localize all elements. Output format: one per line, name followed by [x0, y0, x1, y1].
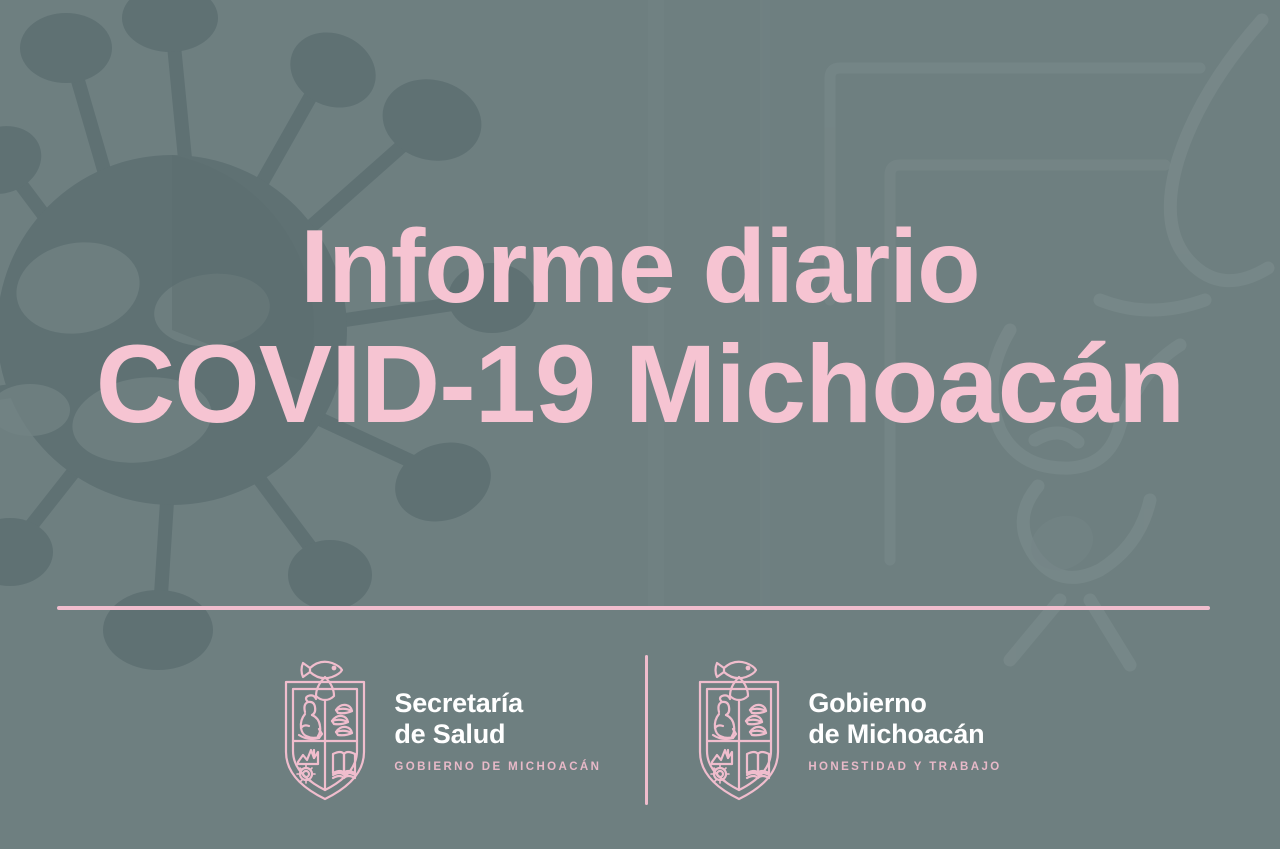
horizontal-divider: [57, 606, 1210, 610]
logo-gobierno-de-michoacan: Gobierno de Michoacán HONESTIDAD Y TRABA…: [692, 656, 1001, 804]
covid-report-banner: Informe diario COVID-19 Michoacán: [0, 0, 1280, 849]
logo-tagline: HONESTIDAD Y TRABAJO: [808, 761, 1001, 773]
logo-text-secretaria: Secretaría de Salud GOBIERNO DE MICHOACÁ…: [394, 688, 601, 773]
footer-logo-bar: Secretaría de Salud GOBIERNO DE MICHOACÁ…: [0, 640, 1280, 820]
title-line-informe-diario: Informe diario: [0, 208, 1280, 326]
logo-text-gobierno: Gobierno de Michoacán HONESTIDAD Y TRABA…: [808, 688, 1001, 773]
logo-name-line1: Gobierno: [808, 688, 1001, 719]
page-title: Informe diario COVID-19 Michoacán: [0, 208, 1280, 444]
logo-name-line1: Secretaría: [394, 688, 601, 719]
logo-name-line2: de Salud: [394, 719, 601, 750]
logo-tagline: GOBIERNO DE MICHOACÁN: [394, 761, 601, 773]
logo-secretaria-de-salud: Secretaría de Salud GOBIERNO DE MICHOACÁ…: [278, 656, 601, 804]
logo-name-line2: de Michoacán: [808, 719, 1001, 750]
logo-vertical-divider: [645, 655, 648, 805]
emblem-fill-shape: [1022, 506, 1102, 580]
title-line-covid-michoacan: COVID-19 Michoacán: [0, 326, 1280, 444]
michoacan-coat-of-arms-icon: [692, 656, 786, 804]
michoacan-coat-of-arms-icon: [278, 656, 372, 804]
